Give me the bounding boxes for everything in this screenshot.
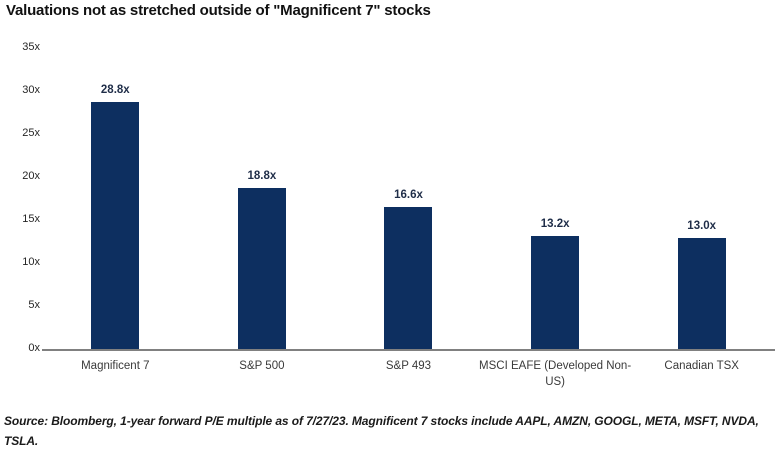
chart-page: Valuations not as stretched outside of "…	[0, 0, 784, 462]
x-axis-line	[42, 349, 775, 351]
y-axis-tick-label: 25x	[0, 128, 40, 139]
bar-value-label: 13.2x	[541, 218, 570, 230]
plot-area: 0x5x10x15x20x25x30x35x 28.8x18.8x16.6x13…	[0, 0, 784, 396]
bar-value-label: 28.8x	[101, 84, 130, 96]
bar[interactable]	[384, 207, 432, 350]
x-axis-category-label: S&P 493	[329, 358, 488, 374]
y-axis-tick-label: 10x	[0, 257, 40, 268]
bar-slot: 16.6x	[335, 40, 482, 350]
bar[interactable]	[91, 102, 139, 350]
y-axis-tick-label: 35x	[0, 42, 40, 53]
y-axis-tick-label: 30x	[0, 85, 40, 96]
x-axis-category-label: S&P 500	[183, 358, 342, 374]
y-axis-tick-label: 5x	[0, 300, 40, 311]
x-axis-category-label: Magnificent 7	[36, 358, 195, 374]
x-axis-category-label: MSCI EAFE (Developed Non-US)	[476, 358, 635, 390]
bar[interactable]	[238, 188, 286, 350]
bar-value-label: 16.6x	[394, 189, 423, 201]
x-axis-category-label: Canadian TSX	[622, 358, 781, 374]
bar-slot: 13.0x	[628, 40, 775, 350]
bar-slot: 18.8x	[189, 40, 336, 350]
y-axis-tick-label: 20x	[0, 171, 40, 182]
y-axis-tick-label: 15x	[0, 214, 40, 225]
bar-slot: 28.8x	[42, 40, 189, 350]
bar[interactable]	[678, 238, 726, 350]
source-note: Source: Bloomberg, 1-year forward P/E mu…	[4, 411, 776, 451]
bar-slot: 13.2x	[482, 40, 629, 350]
bar-value-label: 18.8x	[248, 170, 277, 182]
bar[interactable]	[531, 236, 579, 350]
y-axis-tick-label: 0x	[0, 343, 40, 354]
bar-value-label: 13.0x	[687, 220, 716, 232]
